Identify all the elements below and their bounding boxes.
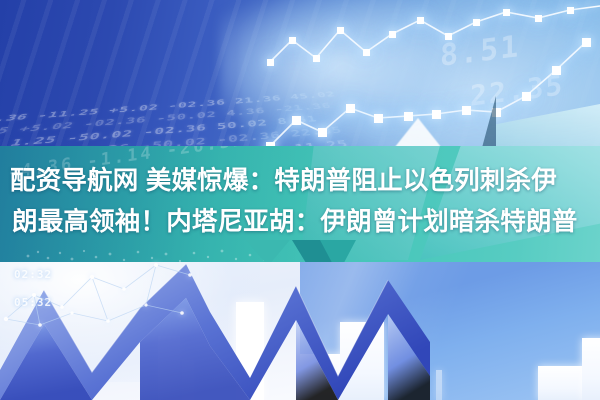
bar-column	[582, 338, 600, 400]
headline-line-1: 配资导航网 美媒惊爆：特朗普阻止以色列刺杀伊	[10, 161, 590, 202]
banner-image: -02.36 -11.25 +5.02 -02.36 21.36 45.02 -…	[0, 0, 600, 400]
bar-column	[436, 370, 442, 400]
bottom-number: 05:32	[14, 296, 52, 309]
headline-line-2: 朗最高领袖！内塔尼亚胡：伊朗曾计划暗杀特朗普	[12, 202, 590, 243]
glow-line-upper	[270, 6, 600, 62]
bottom-number: 02:32	[14, 268, 52, 281]
bar-column	[538, 366, 586, 400]
network-dots	[0, 255, 200, 335]
headline: 配资导航网 美媒惊爆：特朗普阻止以色列刺杀伊 朗最高领袖！内塔尼亚胡：伊朗曾计划…	[0, 161, 600, 243]
